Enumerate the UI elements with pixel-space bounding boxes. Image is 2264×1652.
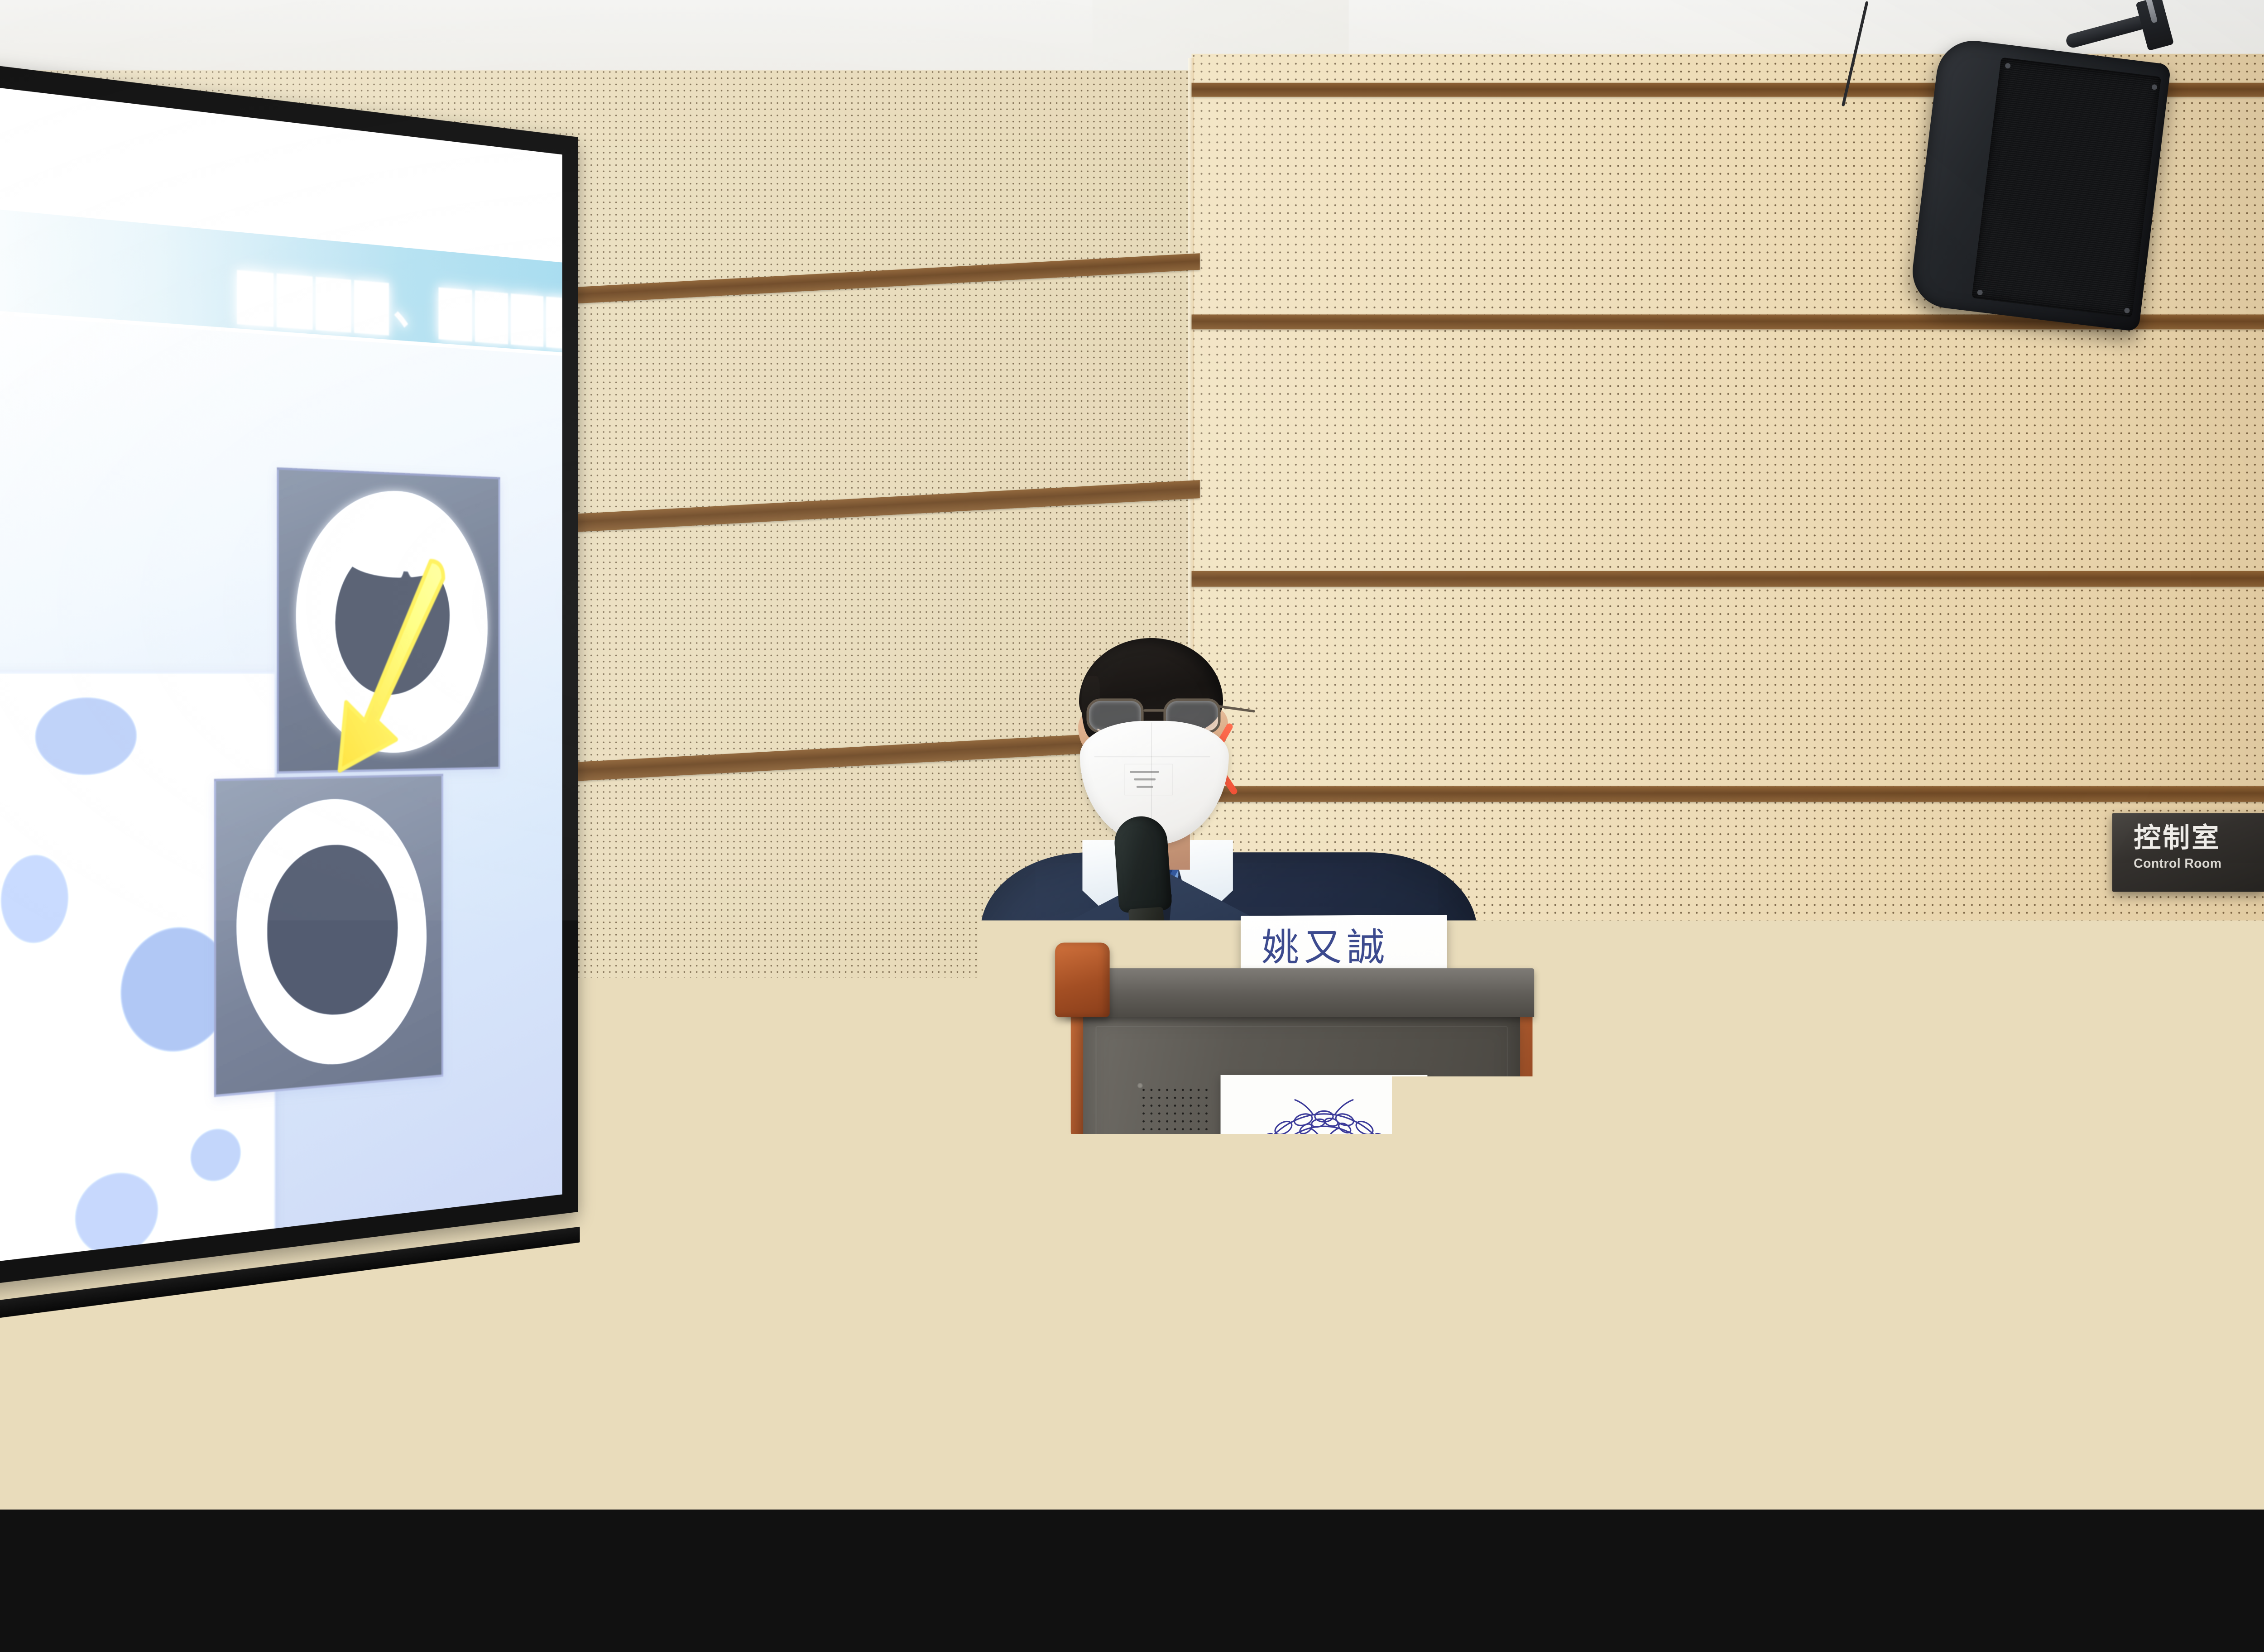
lectern-wood-cap-right [1493,943,1548,1017]
speaker-cabinet [1909,37,2171,332]
control-room-sign-en: Control Room [2134,856,2264,871]
presentation-slide: ▇▇▇▇、▇▇▇▇ [0,79,562,1271]
microphone-capsule [1113,815,1172,913]
cma-emblem-icon: 中華醫學會 C.M.A. 2022 [1221,1075,1428,1365]
lectern-top-surface [1067,968,1535,1017]
lectern-front-panel: 中華醫學會 C.M.A. 2022 [1083,1013,1520,1509]
mask-fold [1094,756,1210,757]
tray-end-cap [820,1243,831,1305]
lectern-power-switch[interactable] [1159,1321,1193,1363]
speaker-name: 姚又誠 [1262,928,1390,967]
wall-mounted-loudspeaker [1909,37,2171,332]
lectern-vent-dots-left [1142,1088,1208,1158]
cma-logo-poster: 中華醫學會 C.M.A. 2022 [1221,1075,1428,1365]
lectern-vent-dots-right [1436,1087,1502,1157]
cma-year: 2022 [1298,1322,1349,1349]
slide-body [0,309,562,1270]
cma-org-name-cn: 中華醫學會 [1286,1243,1362,1258]
screen-frame: ▇▇▇▇、▇▇▇▇ [0,54,578,1295]
screen-surface: ▇▇▇▇、▇▇▇▇ [0,79,562,1271]
vertebra-axial-ct-lower-image [214,774,443,1097]
lectern: 中華醫學會 C.M.A. 2022 [1047,968,1556,1509]
lectern-wood-cap-left [1055,943,1110,1017]
projection-screen: ▇▇▇▇、▇▇▇▇ [0,54,578,1295]
vertebra-axial-ct-upper-image [277,467,500,774]
control-room-sign: 控制室 Control Room [2112,813,2264,892]
speaker-grille [1971,57,2161,317]
control-room-sign-cn: 控制室 [2134,824,2264,851]
wall-trim-right-3 [1192,571,2264,587]
conference-room-photo: ▇▇▇▇、▇▇▇▇ [0,0,2264,1509]
mask-printed-label [1125,764,1173,795]
cma-org-name-en: C.M.A. [1294,1271,1354,1291]
